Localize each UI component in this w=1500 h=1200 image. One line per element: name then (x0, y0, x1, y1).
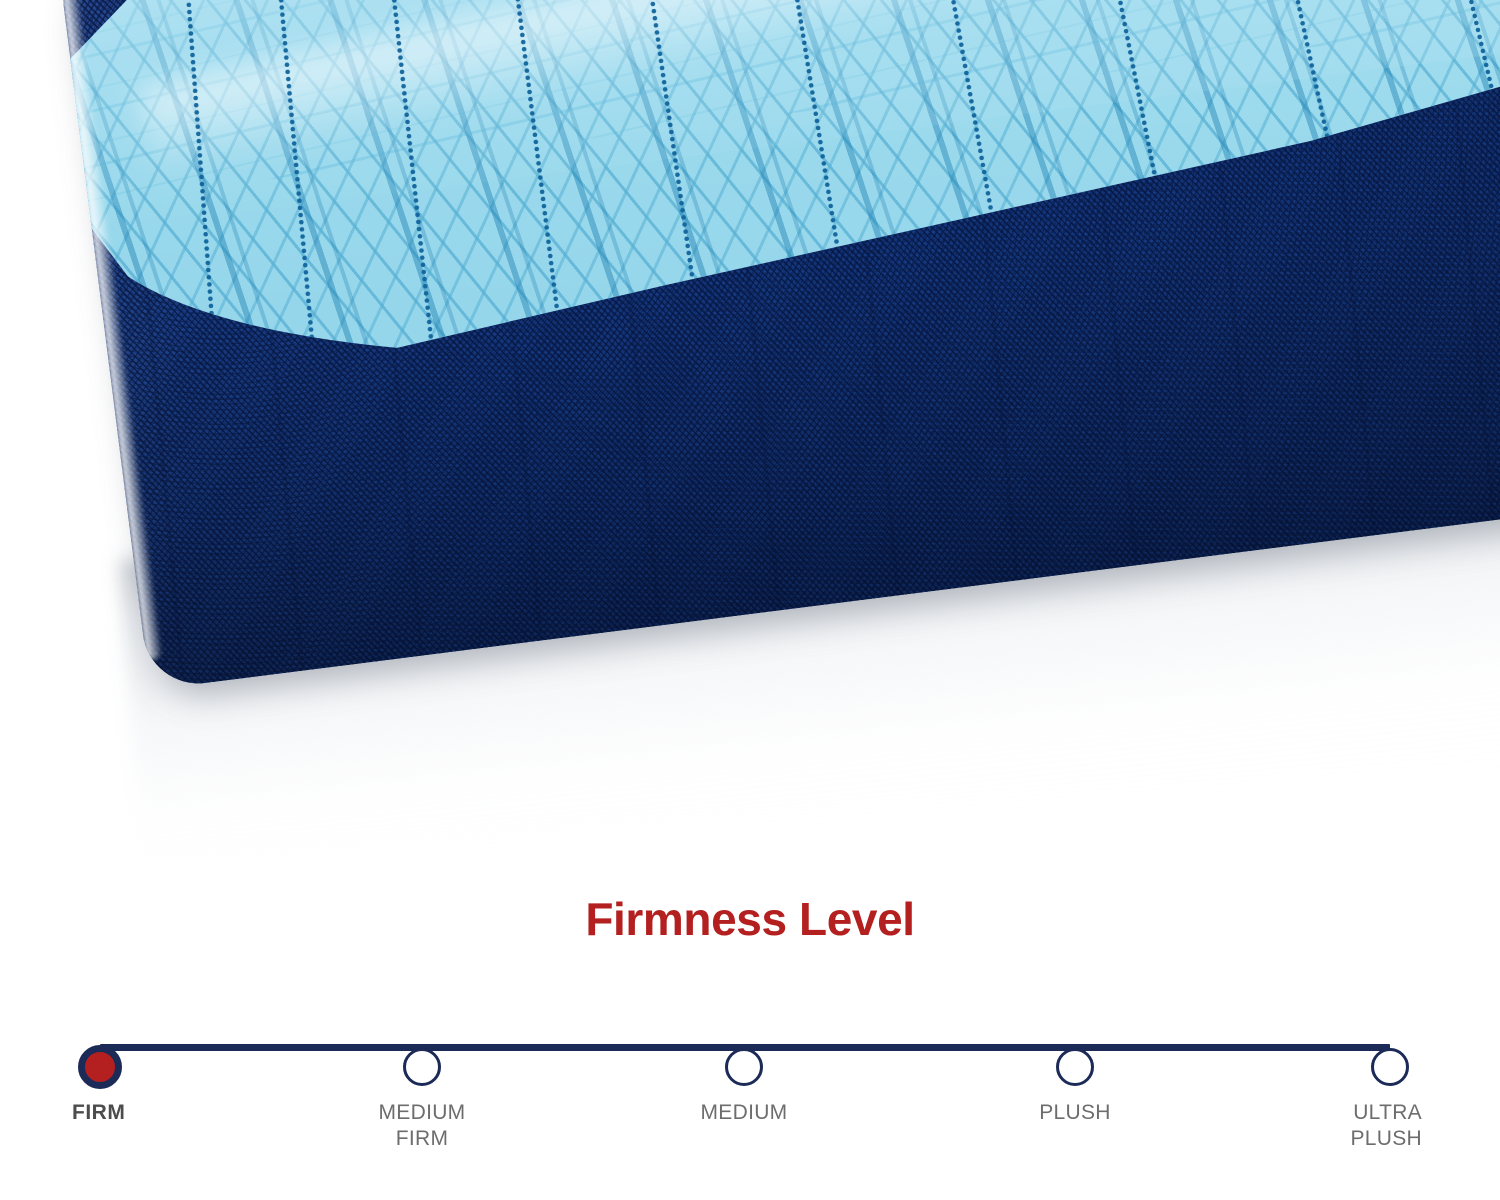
firmness-dot-medium[interactable] (725, 1048, 763, 1086)
firmness-dot-plush[interactable] (1056, 1048, 1094, 1086)
firmness-label-medium: MEDIUM (634, 1100, 854, 1126)
mattress-product-image (0, 0, 1500, 880)
firmness-dot-medium-firm[interactable] (403, 1048, 441, 1086)
firmness-scale[interactable]: FIRM MEDIUM FIRM MEDIUM PLUSH ULTRA PLUS… (0, 1024, 1500, 1200)
firmness-dot-ultra-plush[interactable] (1371, 1048, 1409, 1086)
firmness-label-medium-firm: MEDIUM FIRM (312, 1100, 532, 1152)
firmness-label-firm: FIRM (72, 1100, 292, 1126)
firmness-level-section: Firmness Level FIRM MEDIUM FIRM MEDIUM (0, 880, 1500, 1200)
firmness-label-plush: PLUSH (965, 1100, 1185, 1126)
firmness-title: Firmness Level (0, 892, 1500, 946)
product-page: Firmness Level FIRM MEDIUM FIRM MEDIUM (0, 0, 1500, 1200)
firmness-dot-firm[interactable] (78, 1045, 122, 1089)
firmness-label-ultra-plush: ULTRA PLUSH (1202, 1100, 1422, 1152)
